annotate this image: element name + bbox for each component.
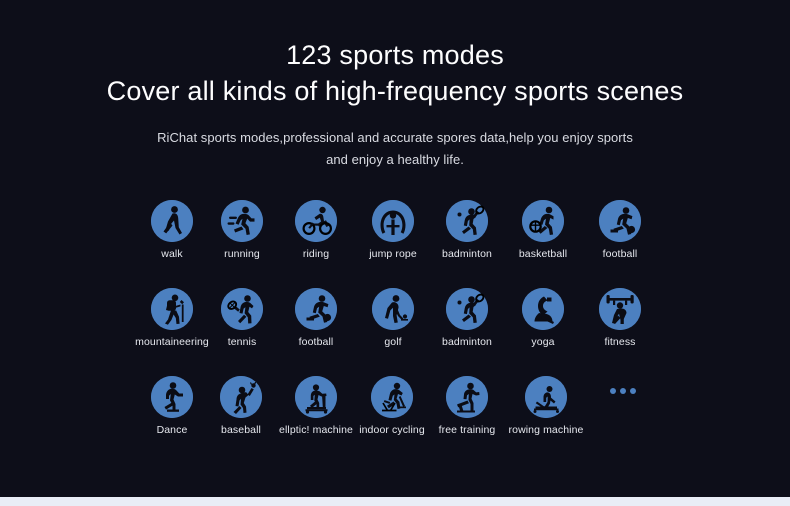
golf-icon [372, 288, 414, 330]
baseball-icon [220, 376, 262, 418]
walk-icon [151, 200, 193, 242]
badminton-icon [446, 288, 488, 330]
header: 123 sports modes Cover all kinds of high… [0, 38, 790, 171]
basketball-icon [522, 200, 564, 242]
page-title-line1: 123 sports modes [0, 38, 790, 72]
sports-modes-grid: walkrunningridingjump ropebadmintonbaske… [0, 200, 790, 464]
badminton-icon [446, 200, 488, 242]
page-subtitle: RiChat sports modes,professional and acc… [145, 127, 645, 171]
sport-item-fitness[interactable]: fitness [572, 288, 668, 349]
dance-icon [151, 376, 193, 418]
sport-item-label: fitness [572, 336, 668, 349]
more-dot [610, 388, 616, 394]
sports-modes-banner: 123 sports modes Cover all kinds of high… [0, 0, 790, 506]
sports-row-1: walkrunningridingjump ropebadmintonbaske… [0, 200, 790, 288]
more-dots-icon[interactable] [603, 388, 643, 394]
sport-item-label: rowing machine [498, 424, 594, 437]
sports-row-2: mountaineeringtennisfootballgolfbadminto… [0, 288, 790, 376]
indoor-cycling-icon [371, 376, 413, 418]
jump-rope-icon [372, 200, 414, 242]
mountaineering-icon [151, 288, 193, 330]
sport-item-label: football [572, 248, 668, 261]
more-dot [630, 388, 636, 394]
running-icon [221, 200, 263, 242]
tennis-icon [221, 288, 263, 330]
yoga-icon [522, 288, 564, 330]
football-icon [599, 200, 641, 242]
sport-item-rowing-machine[interactable]: rowing machine [498, 376, 594, 437]
riding-icon [295, 200, 337, 242]
sports-row-3: Dancebaseballellptic! machineindoor cycl… [0, 376, 790, 464]
elliptical-machine-icon [295, 376, 337, 418]
page-title-line2: Cover all kinds of high-frequency sports… [0, 74, 790, 108]
fitness-icon [599, 288, 641, 330]
rowing-machine-icon [525, 376, 567, 418]
more-dot [620, 388, 626, 394]
free-training-icon [446, 376, 488, 418]
bottom-strip [0, 497, 790, 506]
sport-item-football[interactable]: football [572, 200, 668, 261]
football-icon [295, 288, 337, 330]
